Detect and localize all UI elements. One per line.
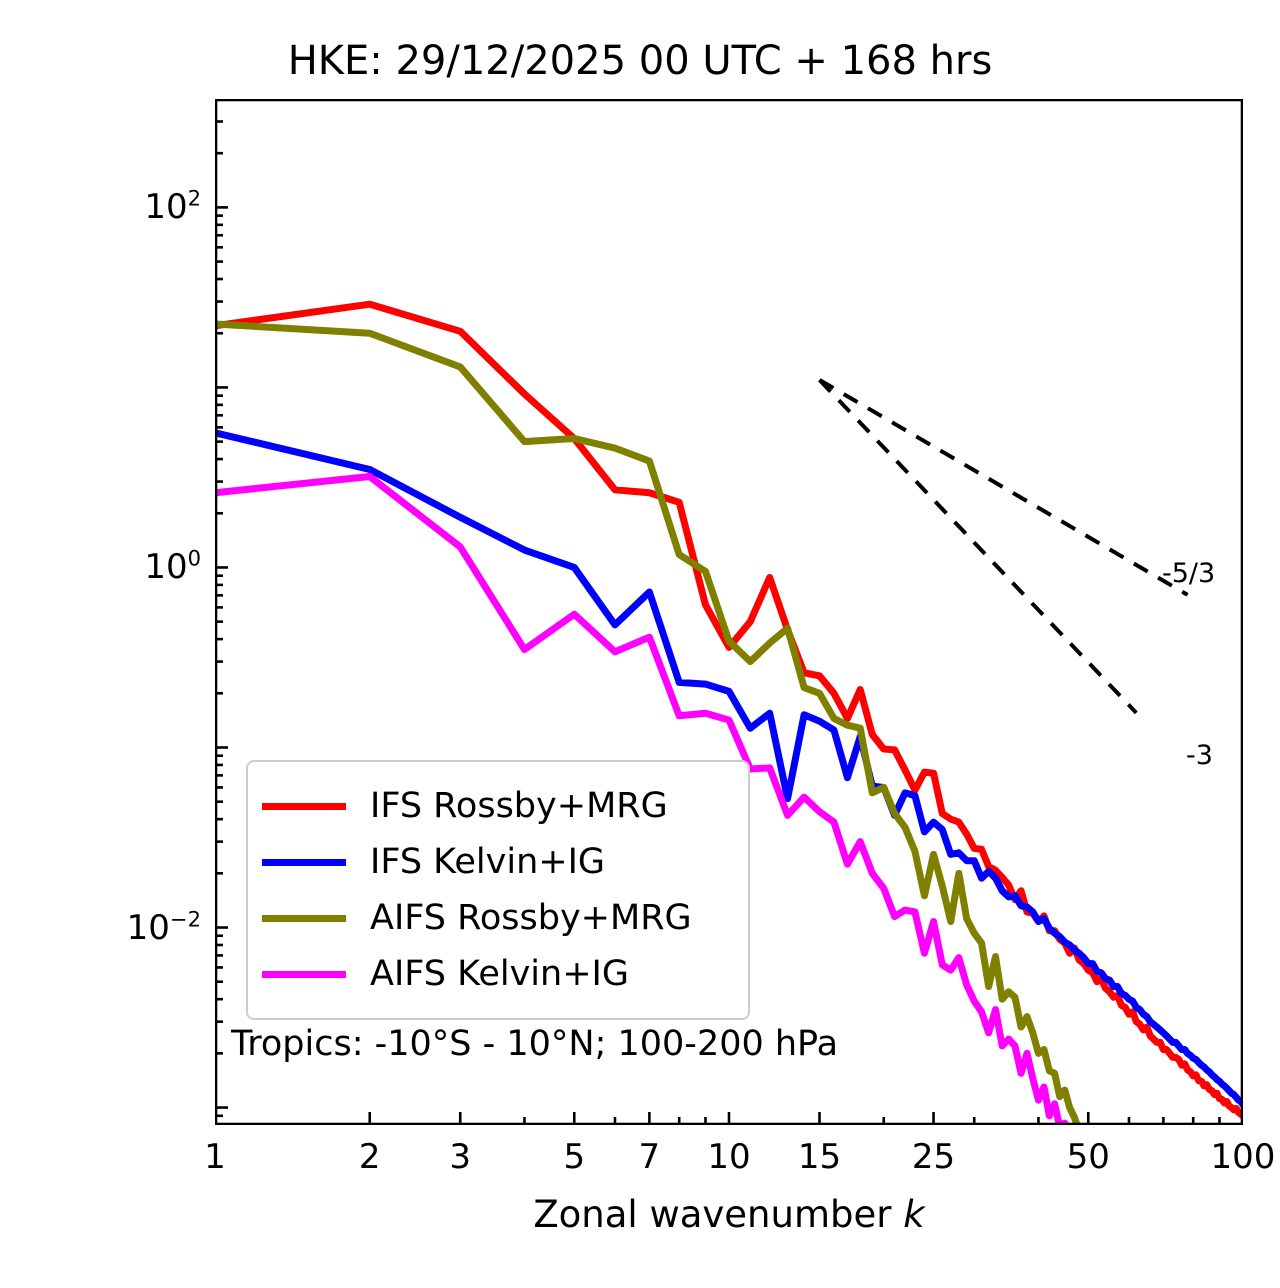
y-tick-base: 10 (144, 187, 187, 227)
legend-label: IFS Kelvin+IG (370, 842, 605, 882)
legend-color-swatch (262, 915, 346, 922)
y-tick-label: 102 (144, 187, 201, 227)
x-tick-label: 15 (798, 1137, 841, 1177)
slope-label-minus-three: -3 (1186, 740, 1213, 771)
x-tick-label: 25 (912, 1137, 955, 1177)
y-tick-base: 10 (144, 547, 187, 587)
legend-label: IFS Rossby+MRG (370, 786, 668, 826)
slope-label-five-thirds: -5/3 (1162, 558, 1215, 589)
x-tick-label: 1 (204, 1137, 226, 1177)
x-tick-label: 10 (707, 1137, 750, 1177)
legend-item-3[interactable]: AIFS Kelvin+IG (262, 946, 730, 1002)
legend-color-swatch (262, 859, 346, 866)
y-tick-label: 10−2 (127, 908, 201, 948)
legend: IFS Rossby+MRGIFS Kelvin+IGAIFS Rossby+M… (246, 760, 750, 1020)
x-axis-label-symbol: k (903, 1193, 924, 1236)
region-caption: Tropics: -10°S - 10°N; 100-200 hPa (231, 1024, 838, 1064)
x-tick-label: 50 (1067, 1137, 1110, 1177)
x-tick-label: 100 (1211, 1137, 1276, 1177)
chart-title: HKE: 29/12/2025 00 UTC + 168 hrs (0, 38, 1280, 84)
y-tick-exponent: 2 (188, 186, 201, 211)
legend-item-0[interactable]: IFS Rossby+MRG (262, 778, 730, 834)
chart-root: HKE: 29/12/2025 00 UTC + 168 hrs Horizon… (0, 0, 1280, 1288)
legend-item-2[interactable]: AIFS Rossby+MRG (262, 890, 730, 946)
x-tick-label: 3 (449, 1137, 471, 1177)
y-tick-label: 100 (144, 547, 201, 587)
legend-item-1[interactable]: IFS Kelvin+IG (262, 834, 730, 890)
legend-color-swatch (262, 803, 346, 810)
legend-label: AIFS Rossby+MRG (370, 898, 692, 938)
x-axis-label-text: Zonal wavenumber (533, 1193, 891, 1236)
legend-label: AIFS Kelvin+IG (370, 954, 629, 994)
x-axis-label: Zonal wavenumber k (215, 1193, 1243, 1236)
x-tick-label: 5 (563, 1137, 585, 1177)
y-tick-exponent: 0 (188, 546, 201, 571)
x-tick-label: 2 (359, 1137, 381, 1177)
y-tick-exponent: −2 (170, 906, 201, 931)
x-tick-label: 7 (639, 1137, 661, 1177)
legend-color-swatch (262, 971, 346, 978)
y-tick-base: 10 (127, 908, 170, 948)
